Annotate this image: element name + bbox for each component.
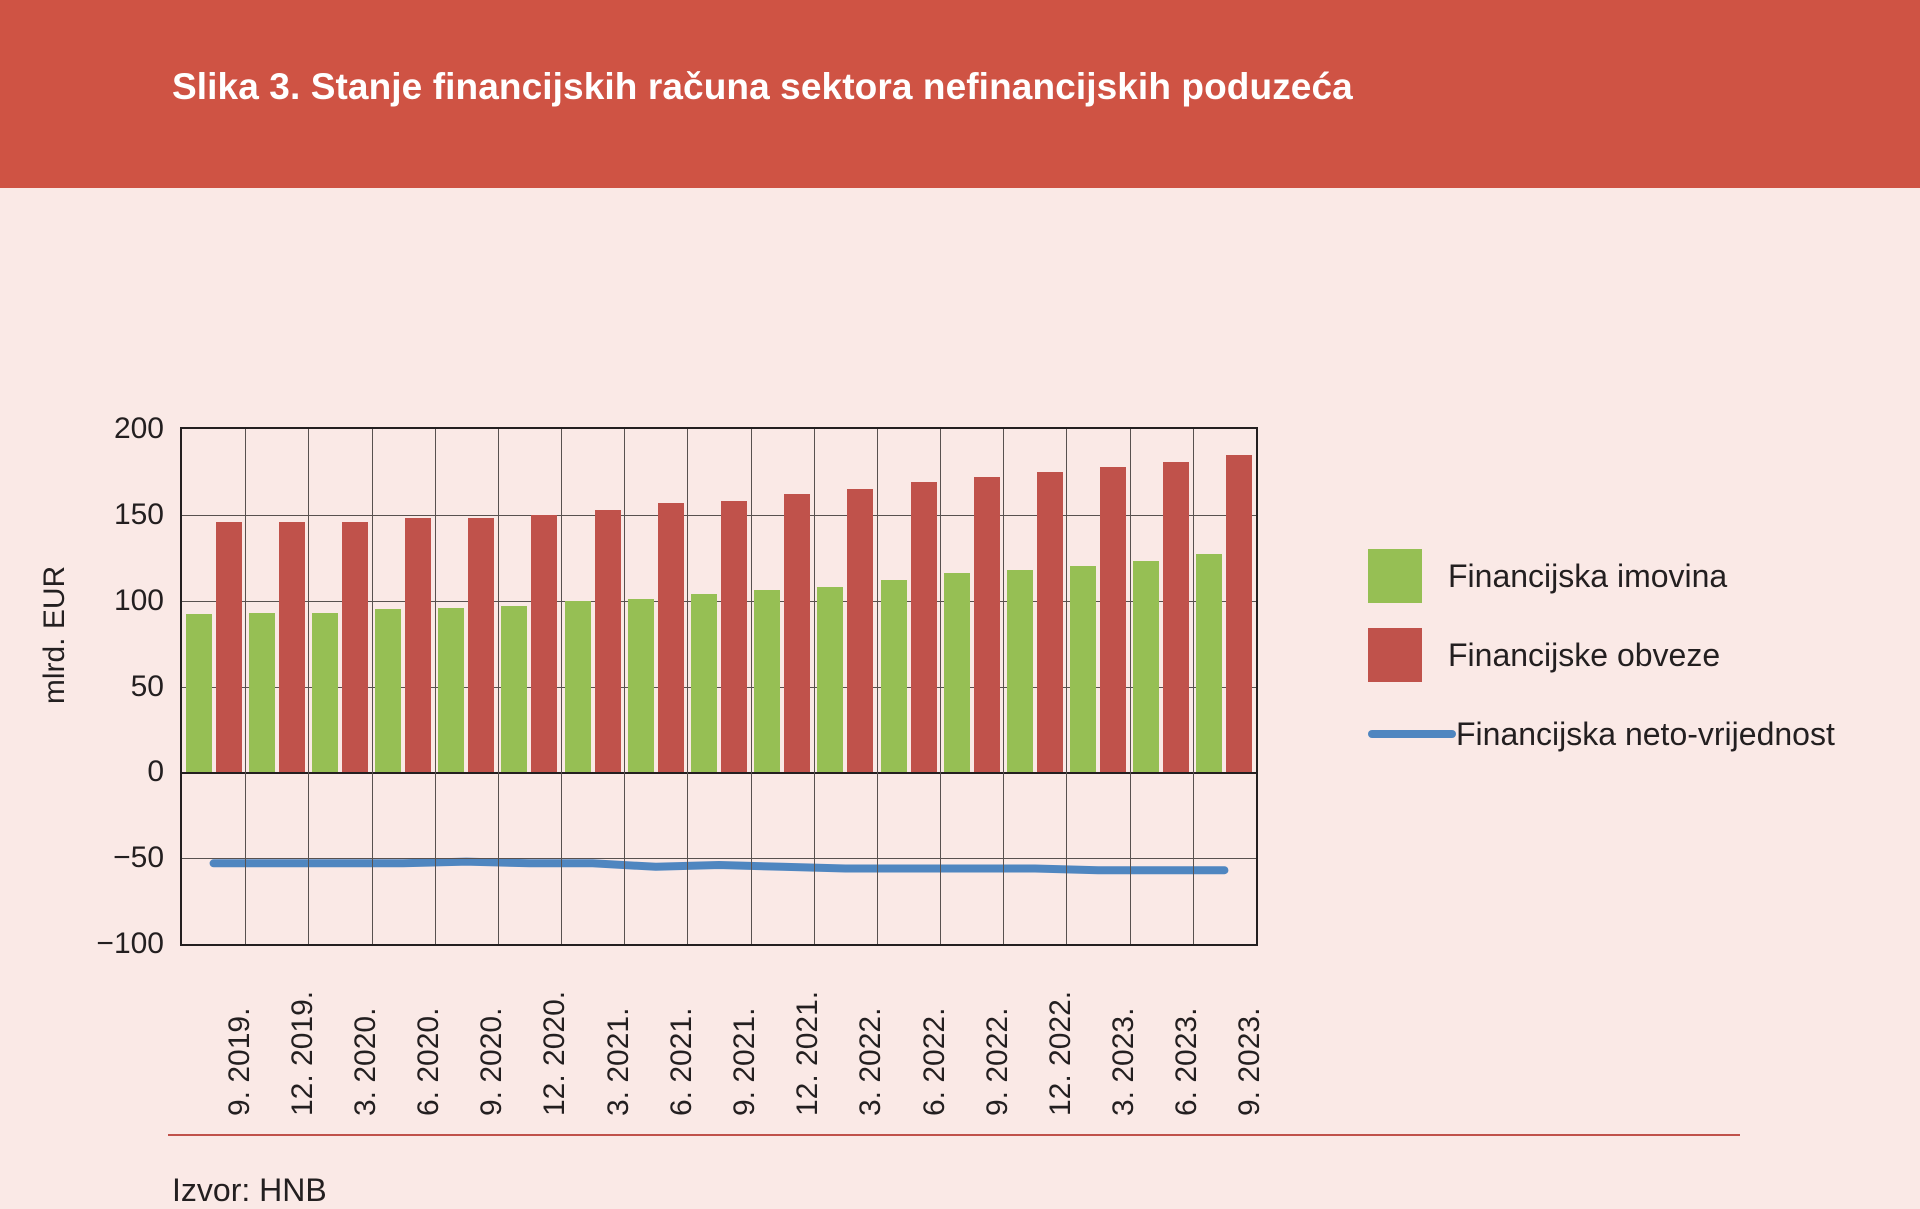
bar-asset <box>1133 561 1159 772</box>
x-axis-tick-label: 12. 2022. <box>1046 991 1076 1116</box>
footer-divider <box>168 1134 1740 1136</box>
y-axis-tick-label: −100 <box>80 929 164 959</box>
bar-liability <box>911 482 937 772</box>
source-note: Izvor: HNB <box>172 1172 327 1209</box>
gridline-vertical <box>372 429 373 944</box>
bar-liability <box>1100 467 1126 773</box>
bar-asset <box>1007 570 1033 773</box>
bar-asset <box>501 606 527 773</box>
x-axis-tick-label: 6. 2023. <box>1172 1008 1202 1116</box>
bar-asset <box>565 601 591 773</box>
bar-liability <box>531 515 557 773</box>
bar-liability <box>1037 472 1063 772</box>
gridline-vertical <box>561 429 562 944</box>
legend-line-marker <box>1368 730 1456 738</box>
x-axis-tick-label: 12. 2021. <box>793 991 823 1116</box>
bar-liability <box>847 489 873 772</box>
x-axis-tick-label: 9. 2020. <box>477 1008 507 1116</box>
bar-asset <box>1070 566 1096 772</box>
legend-item[interactable]: Financijske obveze <box>1368 625 1720 685</box>
x-axis-tick-label: 6. 2022. <box>920 1008 950 1116</box>
bar-liability <box>342 522 368 773</box>
bar-asset <box>438 608 464 773</box>
x-axis-tick-label: 6. 2021. <box>667 1008 697 1116</box>
gridline-vertical <box>1066 429 1067 944</box>
gridline-vertical <box>498 429 499 944</box>
bar-asset <box>881 580 907 772</box>
bar-asset <box>628 599 654 772</box>
gridline-vertical <box>245 429 246 944</box>
legend-label: Financijske obveze <box>1448 637 1720 674</box>
bar-asset <box>754 590 780 772</box>
y-axis-tick-label: 150 <box>80 500 164 530</box>
bar-liability <box>658 503 684 773</box>
title-banner: Slika 3. Stanje financijskih računa sekt… <box>0 0 1920 188</box>
legend-label: Financijska imovina <box>1448 558 1727 595</box>
bar-liability <box>468 518 494 772</box>
x-axis-tick-label: 3. 2023. <box>1109 1008 1139 1116</box>
legend-item[interactable]: Financijska imovina <box>1368 546 1727 606</box>
x-axis-tick-label: 9. 2021. <box>730 1008 760 1116</box>
page-title: Slika 3. Stanje financijskih računa sekt… <box>172 66 1353 108</box>
y-axis-tick-label: 200 <box>80 414 164 444</box>
y-axis-ticks: 200150100500−50−100 <box>62 427 164 946</box>
plot-area <box>180 427 1258 946</box>
chart-figure: 200150100500−50−100 mlrd. EUR 9. 2019.12… <box>0 188 1920 1080</box>
x-axis-tick-label: 3. 2020. <box>351 1008 381 1116</box>
gridline-vertical <box>624 429 625 944</box>
bar-asset <box>375 609 401 772</box>
gridline-vertical <box>308 429 309 944</box>
bar-asset <box>312 613 338 773</box>
gridline-vertical <box>687 429 688 944</box>
gridline-vertical <box>1003 429 1004 944</box>
x-axis-tick-label: 12. 2020. <box>540 991 570 1116</box>
zero-line <box>182 772 1256 774</box>
gridline-vertical <box>1130 429 1131 944</box>
gridline-vertical <box>940 429 941 944</box>
bar-asset <box>1196 554 1222 772</box>
bar-liability <box>784 494 810 772</box>
x-axis-tick-label: 3. 2022. <box>856 1008 886 1116</box>
bar-asset <box>944 573 970 772</box>
x-axis-tick-label: 3. 2021. <box>604 1008 634 1116</box>
x-axis-tick-label: 9. 2019. <box>225 1008 255 1116</box>
bar-asset <box>186 614 212 772</box>
y-axis-tick-label: 50 <box>80 672 164 702</box>
bar-liability <box>974 477 1000 772</box>
x-axis-tick-label: 6. 2020. <box>414 1008 444 1116</box>
bar-liability <box>595 510 621 773</box>
x-axis-tick-label: 9. 2022. <box>983 1008 1013 1116</box>
gridline-horizontal <box>182 515 1256 516</box>
bar-asset <box>249 613 275 773</box>
legend-color-swatch <box>1368 628 1422 682</box>
gridline-vertical <box>814 429 815 944</box>
gridline-vertical <box>1193 429 1194 944</box>
bar-asset <box>817 587 843 772</box>
gridline-vertical <box>877 429 878 944</box>
gridline-vertical <box>435 429 436 944</box>
bar-liability <box>1163 462 1189 773</box>
line-series-path <box>214 862 1225 871</box>
bar-liability <box>721 501 747 772</box>
bar-liability <box>216 522 242 773</box>
y-axis-title: mlrd. EUR <box>38 525 72 745</box>
gridline-horizontal <box>182 858 1256 859</box>
x-axis-tick-label: 12. 2019. <box>288 991 318 1116</box>
y-axis-tick-label: −50 <box>80 843 164 873</box>
bar-liability <box>279 522 305 773</box>
legend-item[interactable]: Financijska neto-vrijednost <box>1368 704 1835 764</box>
legend-color-swatch <box>1368 549 1422 603</box>
y-axis-tick-label: 0 <box>80 757 164 787</box>
x-axis-ticks: 9. 2019.12. 2019.3. 2020.6. 2020.9. 2020… <box>180 946 1258 1136</box>
bar-asset <box>691 594 717 773</box>
bar-liability <box>1226 455 1252 773</box>
bar-liability <box>405 518 431 772</box>
gridline-vertical <box>751 429 752 944</box>
y-axis-tick-label: 100 <box>80 586 164 616</box>
legend-label: Financijska neto-vrijednost <box>1456 716 1835 753</box>
x-axis-tick-label: 9. 2023. <box>1235 1008 1265 1116</box>
